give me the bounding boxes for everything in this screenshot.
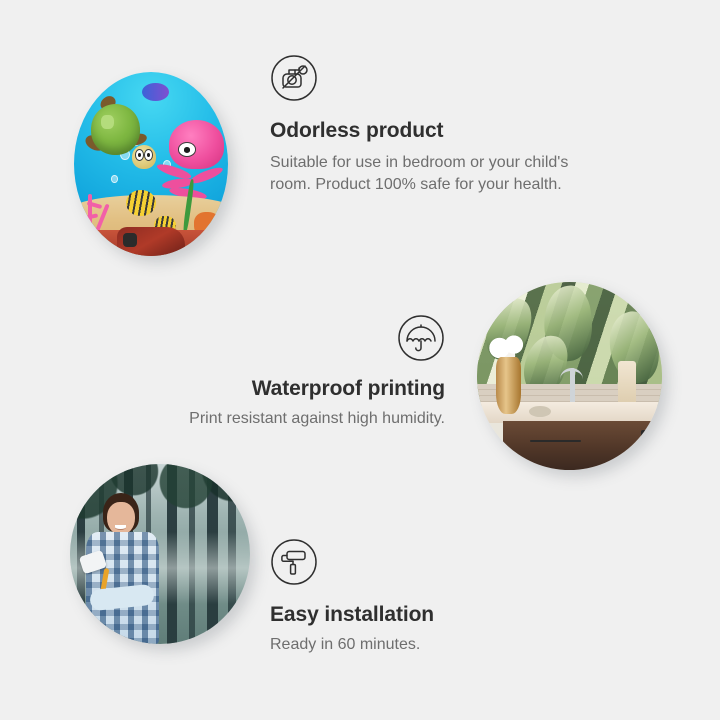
feature-title: Odorless product	[270, 118, 600, 143]
forest-scene	[70, 464, 250, 644]
umbrella-icon	[397, 314, 445, 362]
feature-title: Waterproof printing	[110, 376, 445, 401]
striped-fish	[126, 190, 155, 216]
woman-figure	[84, 493, 178, 644]
paint-roller-icon	[270, 538, 318, 586]
feature-description: Suitable for use in bedroom or your chil…	[270, 152, 600, 195]
underwater-scene	[74, 72, 228, 256]
turtle-eye	[144, 149, 153, 161]
gold-vase	[496, 357, 522, 413]
feature-highlights-panel: Odorless product Suitable for use in bed…	[0, 0, 720, 720]
feature-waterproof: Waterproof printing Print resistant agai…	[110, 314, 445, 430]
blue-fish	[142, 83, 170, 101]
bathroom-scene	[477, 282, 662, 470]
octopus-eye	[178, 142, 196, 157]
feature-installation: Easy installation Ready in 60 minutes.	[270, 538, 570, 656]
shipwreck	[117, 227, 185, 256]
feature-description: Ready in 60 minutes.	[270, 634, 570, 656]
underwater-cartoon-mural-photo	[74, 72, 228, 256]
cabinet-handle	[641, 430, 650, 458]
bathroom-tropical-wallpaper-photo	[477, 282, 662, 470]
feature-description: Print resistant against high humidity.	[110, 408, 445, 430]
octopus-head	[169, 120, 223, 169]
no-perfume-icon	[270, 54, 318, 102]
faucet	[570, 368, 576, 406]
turtle-eye	[135, 149, 144, 161]
feature-odorless: Odorless product Suitable for use in bed…	[270, 54, 600, 195]
woman-with-paint-roller-forest-wallpaper-photo	[70, 464, 250, 644]
face	[107, 502, 135, 535]
feature-title: Easy installation	[270, 602, 570, 627]
bubble-dot	[111, 175, 118, 183]
turtle-shell	[91, 104, 141, 154]
wood-vanity-cabinet	[503, 421, 662, 470]
turtle-head	[132, 145, 156, 169]
drawer-handle	[530, 440, 581, 442]
sea-turtle	[86, 101, 157, 171]
